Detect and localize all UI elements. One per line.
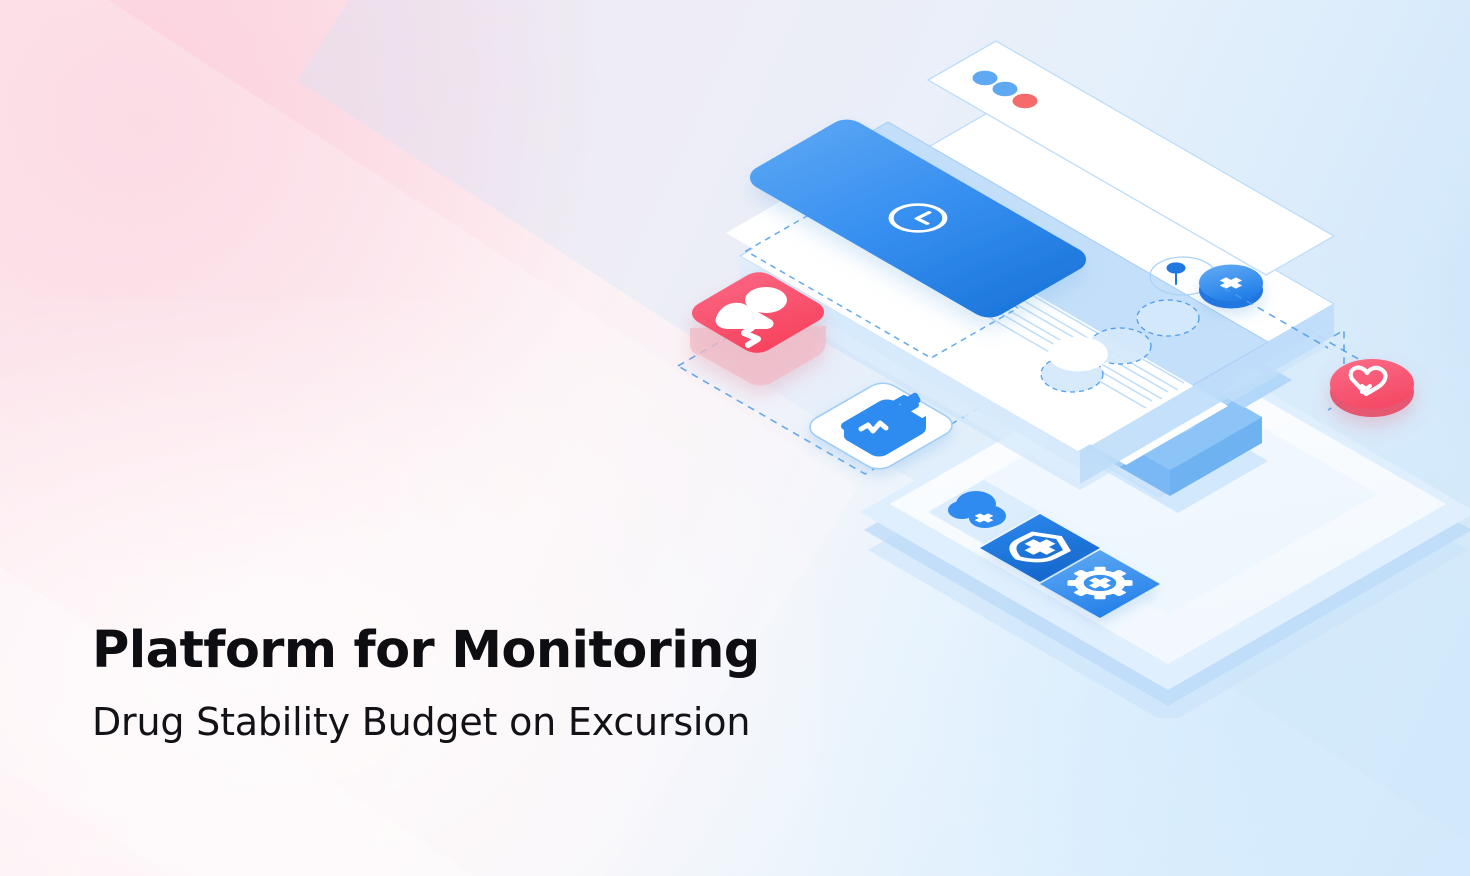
page-subtitle: Drug Stability Budget on Excursion [92, 702, 852, 744]
dotted-slot-1 [1137, 300, 1199, 336]
white-circle-slot [1048, 337, 1108, 372]
heartbeat-alert-badge[interactable] [1330, 359, 1414, 417]
window-dot-blue-1 [973, 71, 998, 86]
window-dot-blue-2 [993, 82, 1018, 97]
hero-text-block: Platform for Monitoring Drug Stability B… [92, 624, 852, 744]
page-title: Platform for Monitoring [92, 624, 852, 678]
medical-cross-button[interactable] [1199, 265, 1263, 309]
isometric-illustration [628, 18, 1470, 718]
window-dot-red [1013, 94, 1038, 109]
hero-banner: Platform for Monitoring Drug Stability B… [0, 0, 1470, 876]
